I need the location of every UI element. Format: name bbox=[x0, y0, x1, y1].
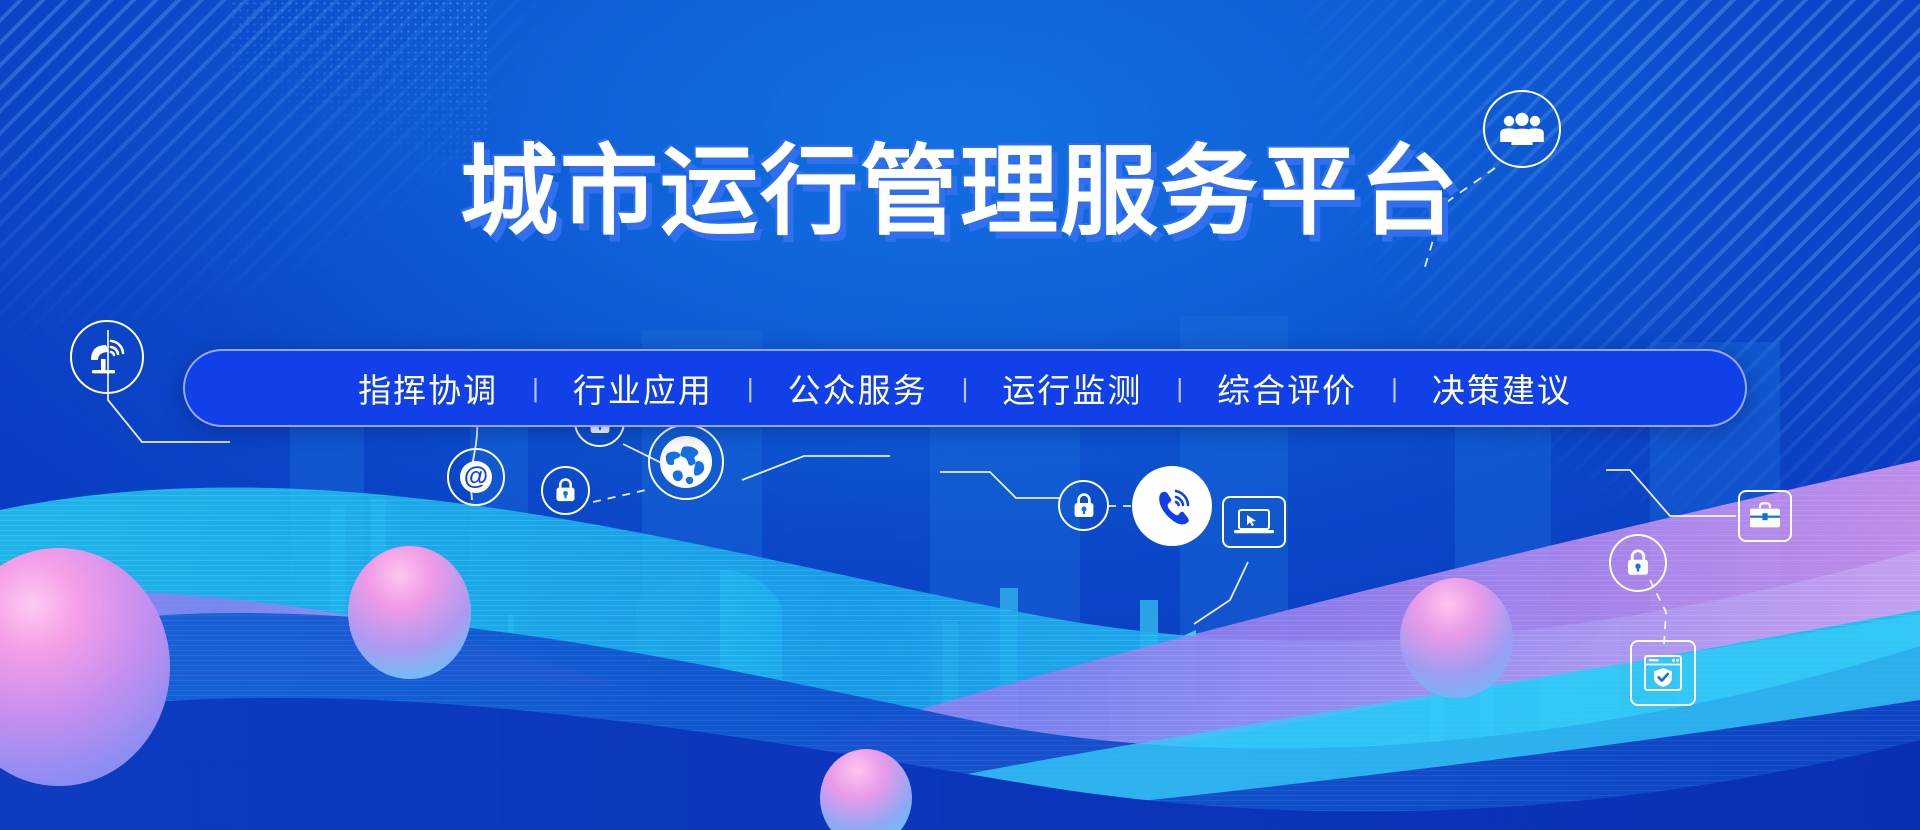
hero-banner: 城市运行管理服务平台 指挥协调 | 行业应用 | 公众服务 | 运行监测 | 综… bbox=[0, 0, 1920, 830]
nav-separator: | bbox=[747, 373, 754, 404]
lock-icon[interactable] bbox=[1609, 534, 1667, 592]
svg-text:@: @ bbox=[464, 463, 488, 491]
main-navigation: 指挥协调 | 行业应用 | 公众服务 | 运行监测 | 综合评价 | 决策建议 bbox=[183, 349, 1747, 427]
nav-separator: | bbox=[532, 373, 539, 404]
phone-call-icon[interactable] bbox=[1132, 466, 1212, 546]
decorative-sphere-left bbox=[348, 546, 471, 679]
nav-item-operation-monitoring[interactable]: 运行监测 bbox=[968, 364, 1176, 412]
nav-item-industry-application[interactable]: 行业应用 bbox=[539, 364, 747, 412]
at-sign-icon[interactable]: @ bbox=[447, 448, 505, 506]
nav-item-command-coordination[interactable]: 指挥协调 bbox=[324, 364, 532, 412]
browser-shield-icon[interactable] bbox=[1630, 640, 1696, 706]
nav-separator: | bbox=[1391, 373, 1398, 404]
page-title: 城市运行管理服务平台 bbox=[0, 140, 1920, 243]
laptop-cursor-icon[interactable] bbox=[1222, 496, 1286, 548]
nav-item-comprehensive-evaluation[interactable]: 综合评价 bbox=[1183, 364, 1391, 412]
satellite-dish-icon[interactable] bbox=[70, 320, 144, 394]
nav-separator: | bbox=[962, 373, 969, 404]
lock-icon[interactable] bbox=[1058, 480, 1109, 531]
nav-item-public-service[interactable]: 公众服务 bbox=[754, 364, 962, 412]
decorative-sphere-right bbox=[1400, 578, 1513, 698]
globe-icon[interactable] bbox=[648, 424, 724, 500]
lock-icon[interactable] bbox=[541, 466, 590, 515]
briefcase-icon[interactable] bbox=[1738, 490, 1792, 542]
wave-ribbons-decoration bbox=[0, 400, 1920, 830]
nav-pill: 指挥协调 | 行业应用 | 公众服务 | 运行监测 | 综合评价 | 决策建议 bbox=[183, 349, 1747, 427]
nav-item-decision-suggestion[interactable]: 决策建议 bbox=[1398, 364, 1606, 412]
nav-separator: | bbox=[1176, 373, 1183, 404]
